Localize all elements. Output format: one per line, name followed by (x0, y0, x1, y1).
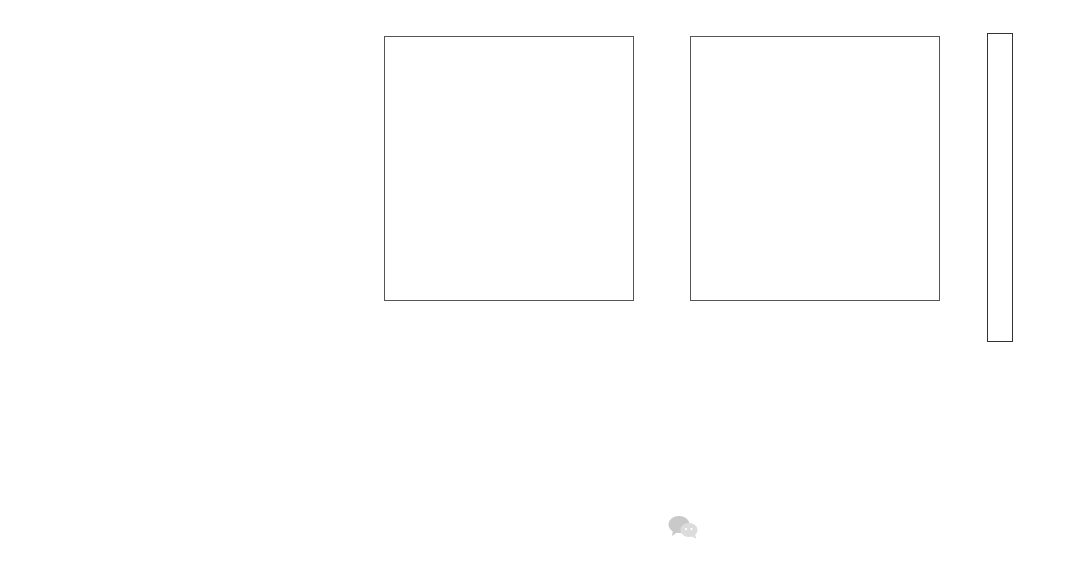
panel-c-heatmap (658, 4, 958, 344)
colorbar-axis (975, 4, 1080, 344)
heatmap-c-area (690, 36, 940, 301)
heatmap-b-area (384, 36, 634, 301)
wechat-logo-icon (668, 515, 698, 539)
colorbar (975, 4, 1080, 344)
panel-a-plot (14, 4, 344, 344)
panel-a-line-chart (14, 4, 344, 344)
panel-b-heatmap (352, 4, 652, 344)
heatmap-c-overlay (690, 36, 940, 301)
heatmap-b-overlay (384, 36, 634, 301)
figure-4 (0, 0, 1080, 575)
